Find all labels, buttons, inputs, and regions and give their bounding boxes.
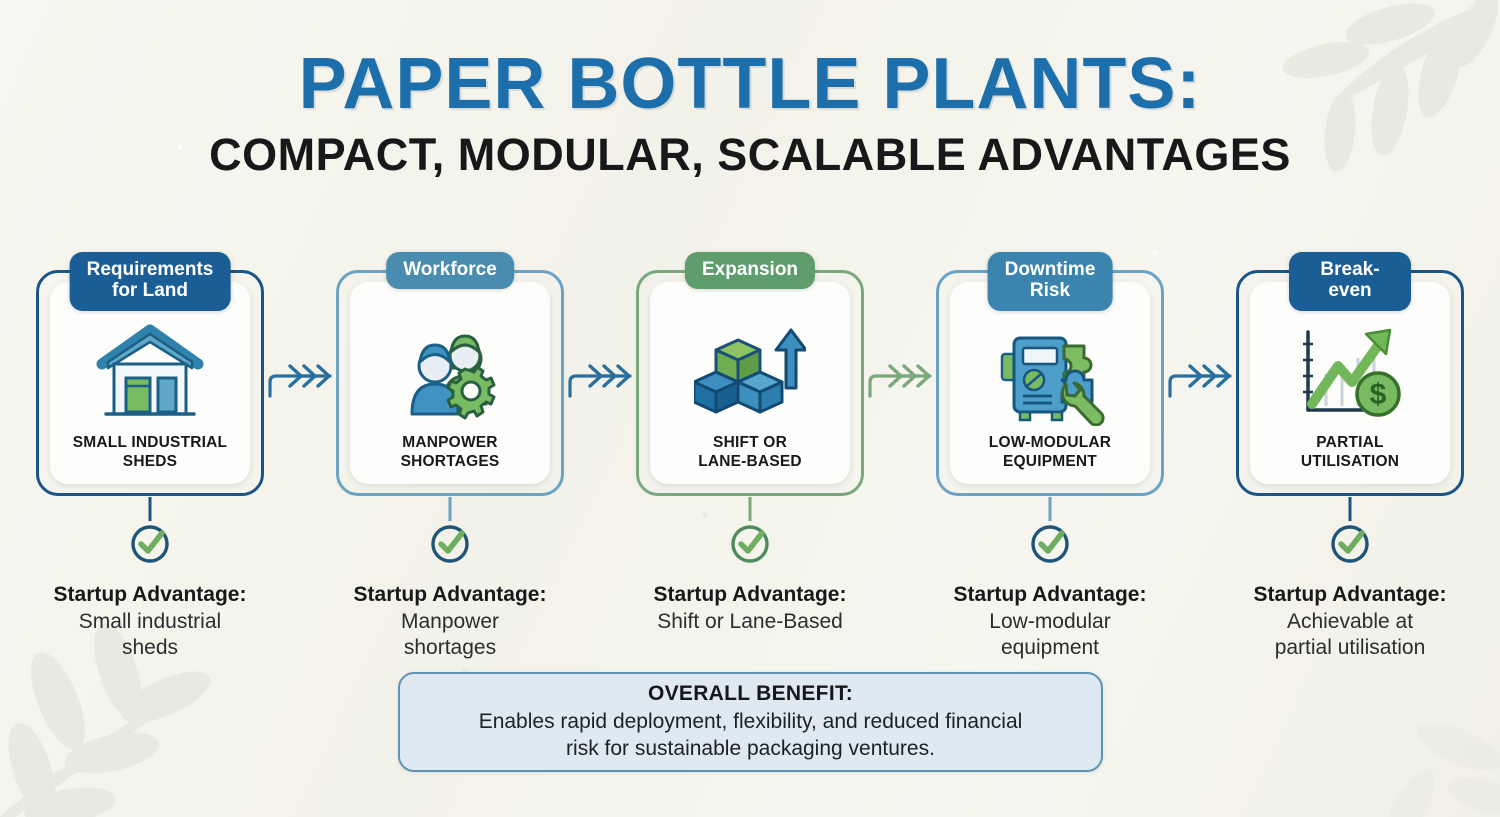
check-circle-icon [1328, 521, 1372, 565]
advantage-item-1: Startup Advantage: Small industrial shed… [0, 505, 300, 655]
advantage-stem [449, 497, 452, 521]
step-badge: Requirements for Land [70, 252, 231, 311]
startup-advantages-row: Startup Advantage: Small industrial shed… [0, 505, 1500, 655]
stacked-cubes-arrow-icon [694, 322, 806, 426]
advantage-title: Startup Advantage: [900, 583, 1200, 607]
advantage-text: Achievable at partial utilisation [1200, 609, 1500, 660]
step-badge: Expansion [685, 252, 815, 289]
svg-text:$: $ [1370, 378, 1387, 411]
step-card-expansion[interactable]: SHIFT OR LANE-BASED Expansion [628, 252, 872, 496]
connector-arrow-3 [872, 252, 928, 496]
step-card-body: $ PARTIAL UTILISATION [1250, 282, 1450, 484]
advantage-item-4: Startup Advantage: Low-modular equipment [900, 505, 1200, 655]
check-circle-icon [128, 521, 172, 565]
advantage-text: Manpower shortages [300, 609, 600, 660]
advantage-item-2: Startup Advantage: Manpower shortages [300, 505, 600, 655]
advantage-stem [149, 497, 152, 521]
advantage-title: Startup Advantage: [300, 583, 600, 607]
advantage-text: Shift or Lane-Based [600, 609, 900, 635]
step-card-break-even[interactable]: $ PARTIAL UTILISATION Break-even [1228, 252, 1472, 496]
check-circle-icon [728, 521, 772, 565]
advantage-text: Small industrial sheds [0, 609, 300, 660]
advantage-item-3: Startup Advantage: Shift or Lane-Based [600, 505, 900, 655]
overall-benefit-title: OVERALL BENEFIT: [648, 682, 853, 706]
step-card-body: SHIFT OR LANE-BASED [650, 282, 850, 484]
step-label: LOW-MODULAR EQUIPMENT [989, 434, 1111, 471]
leaf-watermark-bottom-right [1340, 677, 1500, 817]
step-card-body: MANPOWER SHORTAGES [350, 282, 550, 484]
page-subtitle: COMPACT, MODULAR, SCALABLE ADVANTAGES [0, 131, 1500, 178]
step-label: PARTIAL UTILISATION [1301, 434, 1399, 471]
advantage-stem [1049, 497, 1052, 521]
header: PAPER BOTTLE PLANTS: COMPACT, MODULAR, S… [0, 48, 1500, 179]
advantage-stem [749, 497, 752, 521]
advantage-text: Low-modular equipment [900, 609, 1200, 660]
overall-benefit-text: Enables rapid deployment, flexibility, a… [479, 709, 1023, 762]
step-card-downtime-risk[interactable]: LOW-MODULAR EQUIPMENT Downtime Risk [928, 252, 1172, 496]
step-label: SHIFT OR LANE-BASED [698, 434, 802, 471]
step-badge: Workforce [386, 252, 514, 289]
advantage-stem [1349, 497, 1352, 521]
workers-gear-icon [394, 322, 506, 426]
check-circle-icon [1028, 521, 1072, 565]
step-label: MANPOWER SHORTAGES [401, 434, 500, 471]
machine-puzzle-wrench-icon [994, 322, 1106, 426]
advantage-item-5: Startup Advantage: Achievable at partial… [1200, 505, 1500, 655]
connector-arrow-2 [572, 252, 628, 496]
step-card-requirements-for-land[interactable]: SMALL INDUSTRIAL SHEDS Requirements for … [28, 252, 272, 496]
process-steps-row: SMALL INDUSTRIAL SHEDS Requirements for … [0, 252, 1500, 502]
overall-benefit-box: OVERALL BENEFIT: Enables rapid deploymen… [398, 672, 1103, 772]
step-card-body: LOW-MODULAR EQUIPMENT [950, 282, 1150, 484]
page-title: PAPER BOTTLE PLANTS: [0, 48, 1500, 121]
step-card-body: SMALL INDUSTRIAL SHEDS [50, 282, 250, 484]
growth-chart-dollar-icon: $ [1294, 322, 1406, 426]
advantage-title: Startup Advantage: [1200, 583, 1500, 607]
connector-arrow-4 [1172, 252, 1228, 496]
check-circle-icon [428, 521, 472, 565]
step-badge: Downtime Risk [988, 252, 1113, 311]
factory-shed-icon [94, 322, 206, 426]
step-card-workforce[interactable]: MANPOWER SHORTAGES Workforce [328, 252, 572, 496]
connector-arrow-1 [272, 252, 328, 496]
advantage-title: Startup Advantage: [600, 583, 900, 607]
advantage-title: Startup Advantage: [0, 583, 300, 607]
step-badge: Break-even [1289, 252, 1411, 311]
step-label: SMALL INDUSTRIAL SHEDS [73, 434, 227, 471]
